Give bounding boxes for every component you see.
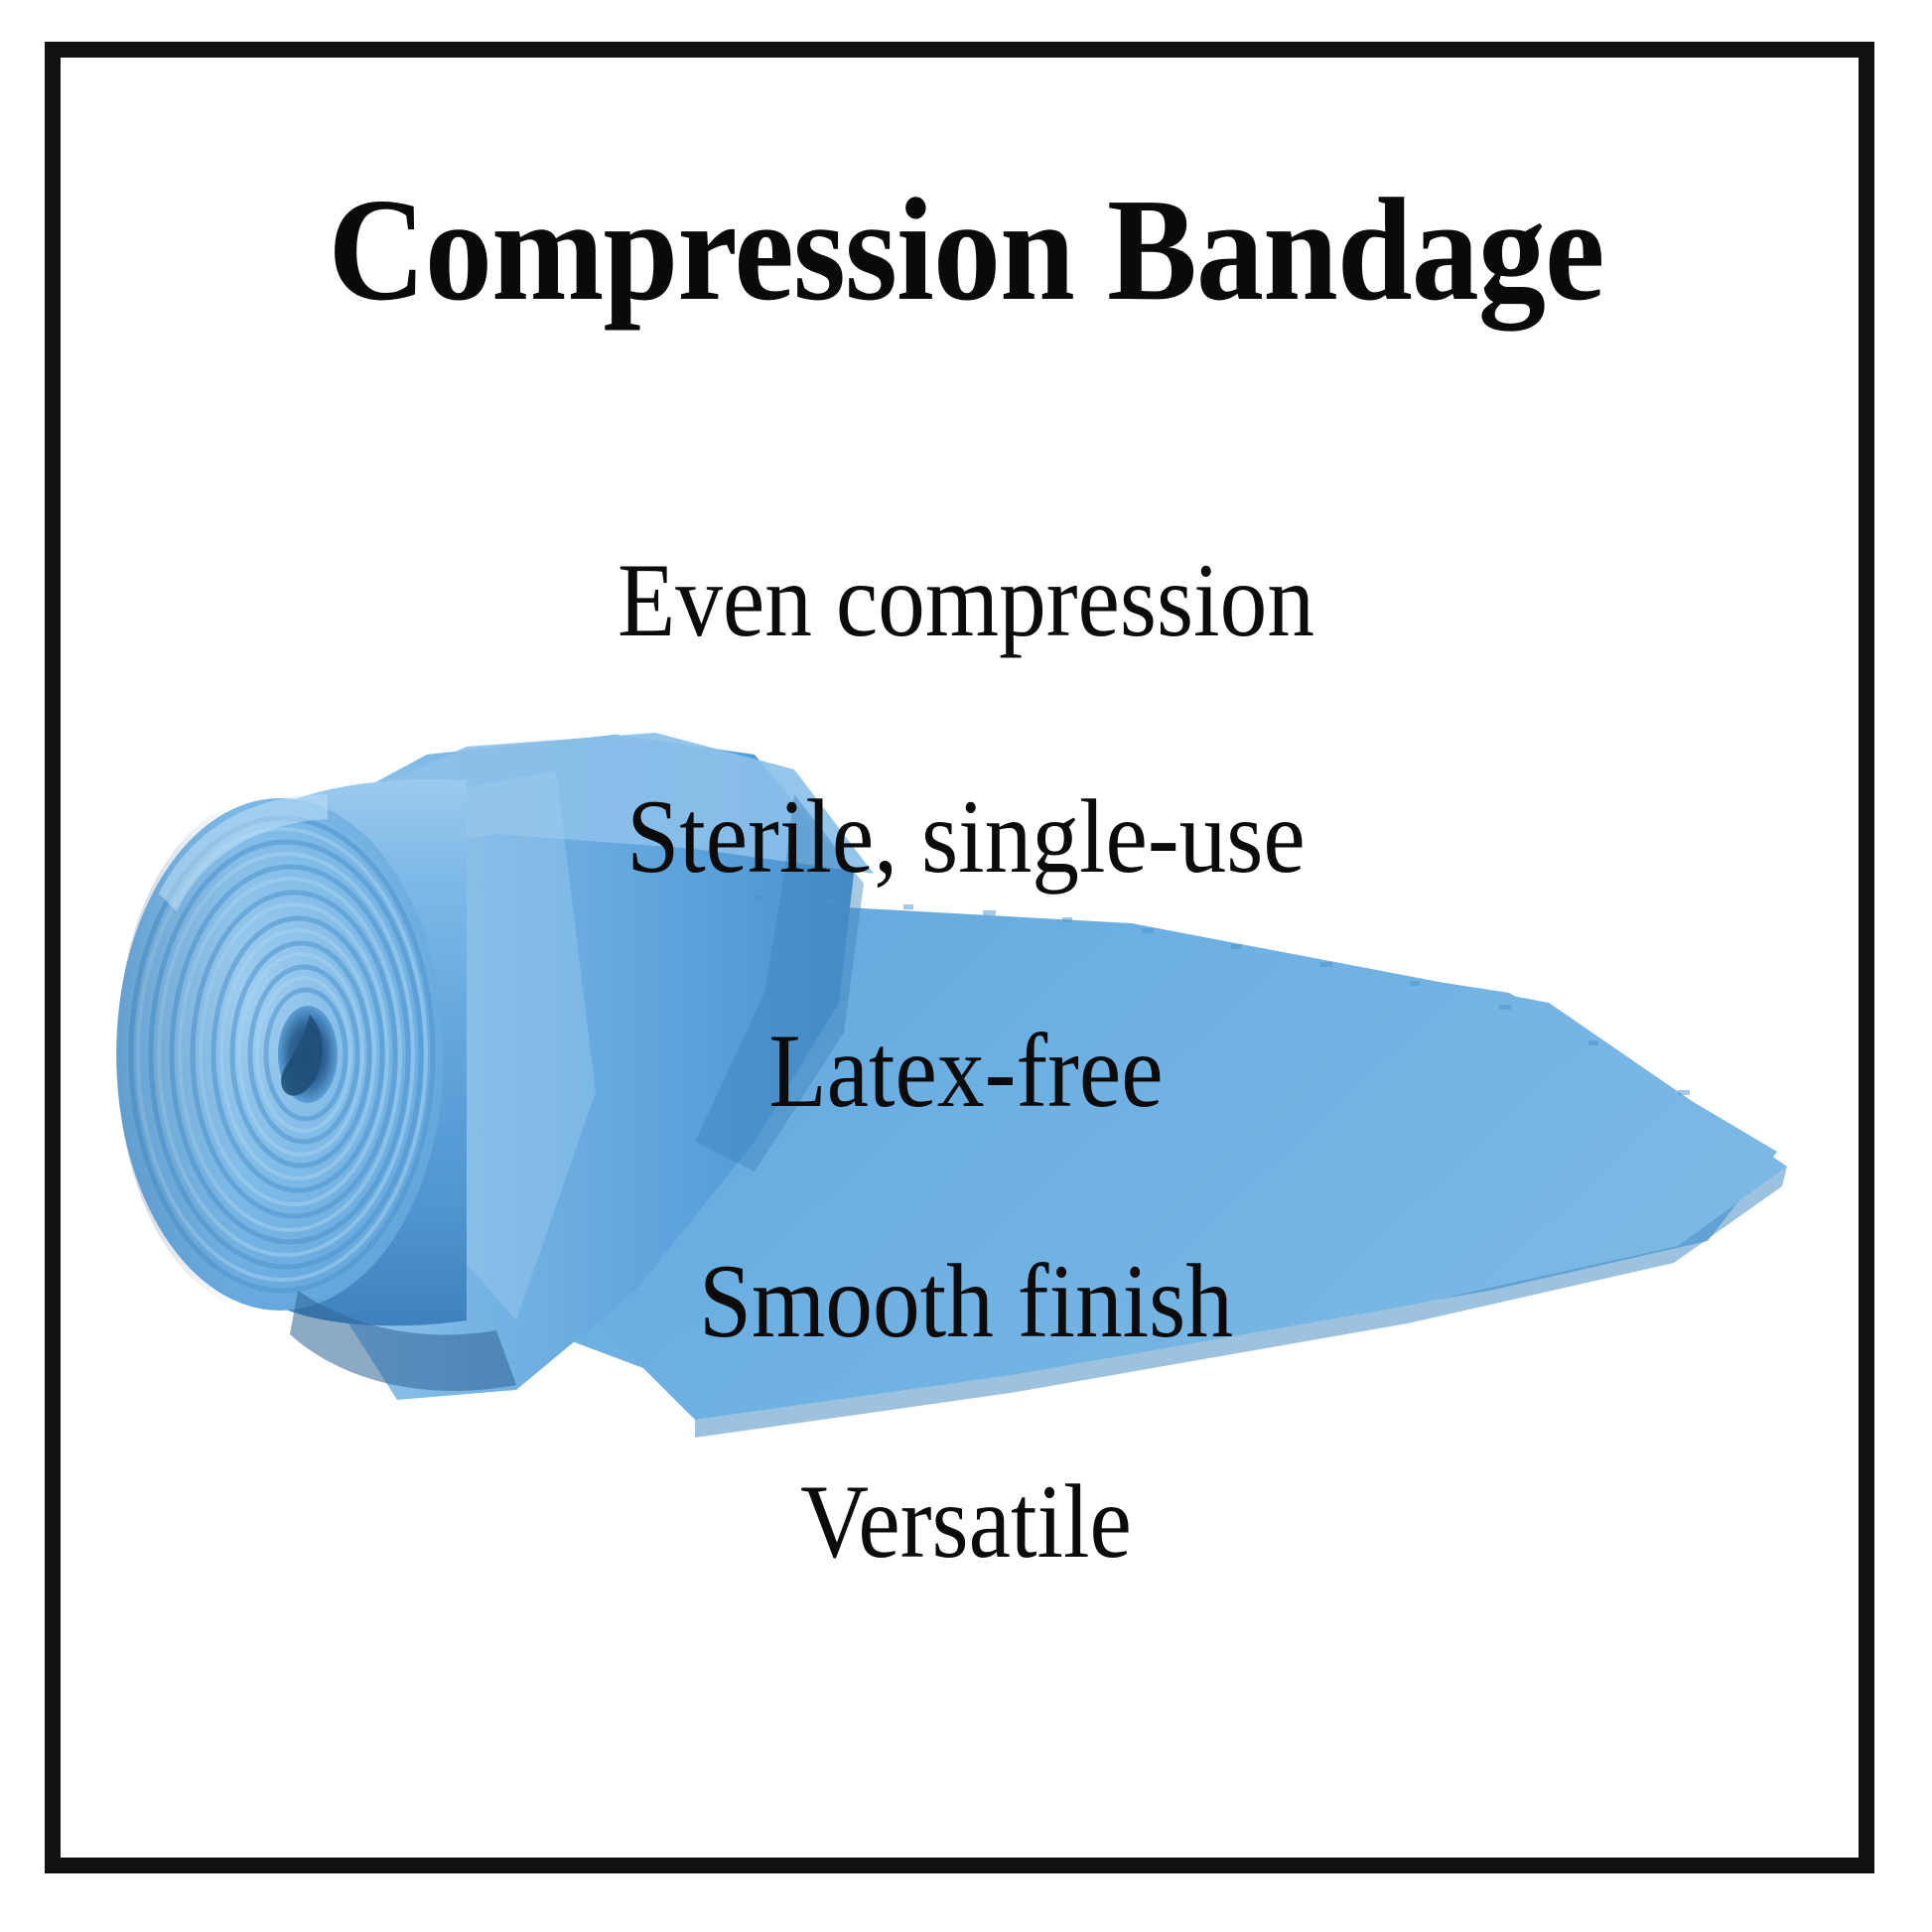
feature-item-smooth-finish: Smooth finish [96,1249,1835,1354]
feature-item-sterile-single-use: Sterile, single-use [96,784,1835,890]
page-title: Compression Bandage [77,177,1855,324]
poster-canvas: Compression Bandage Even compression Ste… [0,0,1932,1932]
feature-item-latex-free: Latex-free [96,1019,1835,1124]
feature-item-versatile: Versatile [96,1469,1835,1575]
feature-item-even-compression: Even compression [96,548,1835,653]
text-layer: Compression Bandage Even compression Ste… [0,0,1932,1932]
